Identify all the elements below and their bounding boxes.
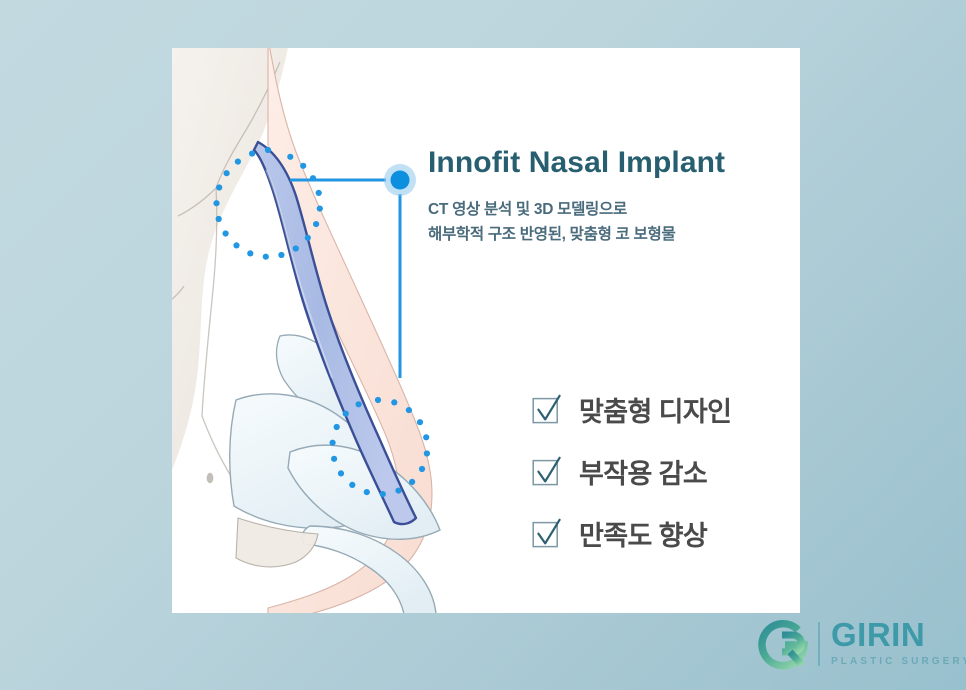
slide-canvas: Innofit Nasal Implant CT 영상 분석 및 3D 모델링으… (0, 0, 966, 690)
subtitle: CT 영상 분석 및 3D 모델링으로 해부학적 구조 반영된, 맞춤형 코 보… (428, 197, 788, 247)
logo-text: GIRIN PLASTIC SURGERY (831, 618, 966, 671)
girin-logo: GIRIN PLASTIC SURGERY (752, 608, 958, 680)
logo-name: GIRIN (831, 616, 925, 653)
list-item-label: 맞춤형 디자인 (579, 390, 731, 429)
checkbox-checked-icon (532, 395, 561, 424)
list-item-label: 만족도 향상 (579, 514, 707, 553)
checkbox-checked-icon (532, 519, 561, 548)
content-card: Innofit Nasal Implant CT 영상 분석 및 3D 모델링으… (172, 48, 800, 613)
subtitle-line-1: CT 영상 분석 및 3D 모델링으로 (428, 197, 788, 222)
gr-monogram-icon (752, 613, 814, 675)
logo-divider (818, 622, 820, 666)
logo-tagline: PLASTIC SURGERY (831, 656, 966, 667)
text-block: Innofit Nasal Implant CT 영상 분석 및 3D 모델링으… (428, 146, 788, 247)
bone-foramen (207, 473, 214, 483)
list-item: 만족도 향상 (532, 502, 792, 564)
checkbox-checked-icon (532, 457, 561, 486)
feature-list: 맞춤형 디자인 부작용 감소 만족도 향상 (532, 378, 792, 564)
list-item: 맞춤형 디자인 (532, 378, 792, 440)
subtitle-line-2: 해부학적 구조 반영된, 맞춤형 코 보형물 (428, 222, 788, 247)
list-item-label: 부작용 감소 (579, 452, 707, 491)
nasal-anatomy-illustration (172, 48, 502, 613)
page-title: Innofit Nasal Implant (428, 146, 788, 181)
list-item: 부작용 감소 (532, 440, 792, 502)
